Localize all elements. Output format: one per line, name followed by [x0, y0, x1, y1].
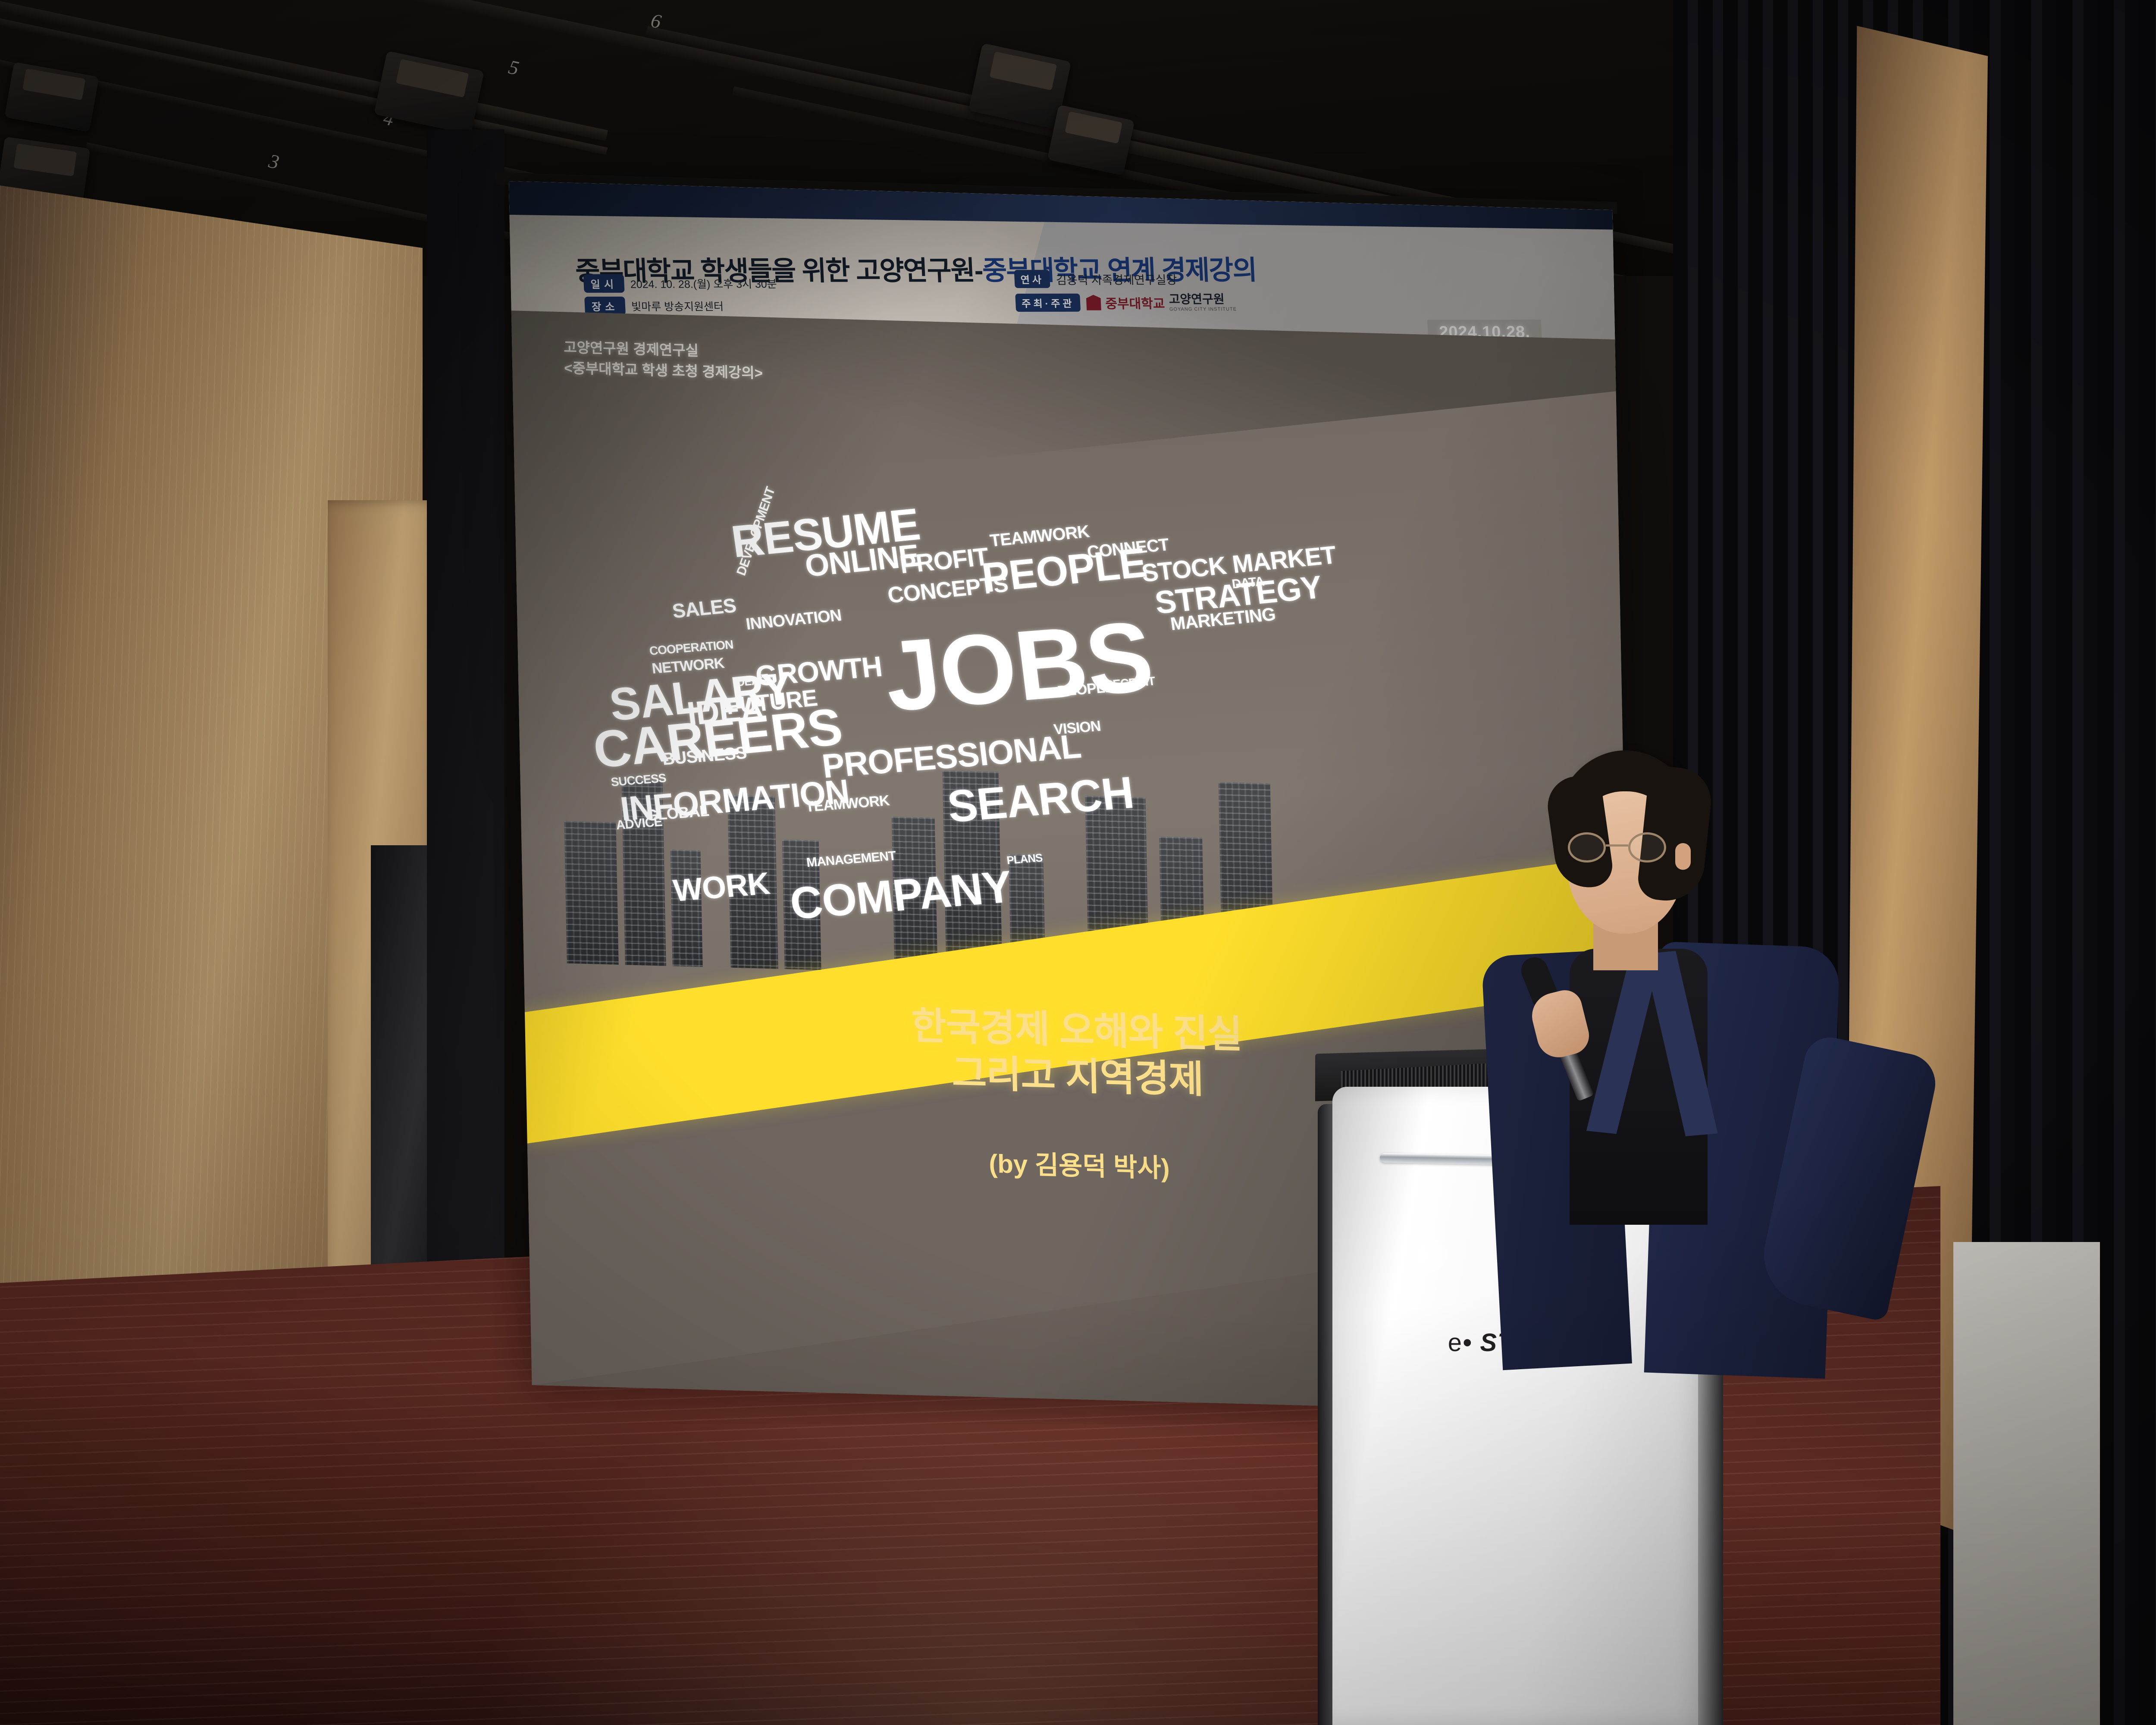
- eyeglass-lens-right: [1628, 832, 1666, 862]
- word-cloud-term: DATA: [1231, 577, 1265, 590]
- banner-tag-datetime: 일시: [583, 274, 625, 293]
- word-cloud-term: JOBS: [881, 615, 1157, 718]
- word-cloud-term: PROFESSIONAL: [821, 733, 1082, 781]
- word-cloud-term: WORK: [672, 871, 771, 903]
- word-cloud-term: GROWTH: [754, 655, 883, 688]
- word-cloud-term: VISION: [1053, 721, 1101, 736]
- word-cloud-graphic: JOBSPEOPLECAREERSSALARYRESUMEPROFESSIONA…: [539, 411, 1360, 984]
- banner-tag-speaker: 연사: [1014, 270, 1050, 288]
- stage-scene: 1 2 3 4 5 6: [0, 0, 2156, 1725]
- podium-logo-e: e: [1448, 1329, 1463, 1357]
- organizer-institute-ko: 고양연구원: [1169, 293, 1236, 305]
- slide-header: 고양연구원 경제연구실 <중부대학교 학생 초청 경제강의>: [564, 337, 763, 383]
- presenter-figure: [1479, 750, 1910, 1483]
- rail-number-3: 3: [267, 149, 282, 174]
- banner-value-speaker: 김용덕 자족경제연구실장: [1056, 270, 1177, 288]
- right-white-wall: [1953, 1242, 2100, 1725]
- organizer-institute-en: GOYANG CITY INSTITUTE: [1169, 307, 1237, 312]
- word-cloud-term: TEAMWORK: [989, 524, 1090, 548]
- city-silhouette: [564, 821, 618, 965]
- eyeglass-bridge: [1606, 844, 1628, 847]
- city-silhouette: [671, 850, 703, 967]
- word-cloud-term: MANAGEMENT: [806, 851, 896, 869]
- dark-wall-column: [427, 129, 505, 1423]
- banner-row-datetime: 일시 2024. 10. 28.(월) 오후 3시 30분: [583, 274, 777, 293]
- podium-highlight: [1397, 1229, 1453, 1281]
- banner-info-rows: 일시 2024. 10. 28.(월) 오후 3시 30분 장소 빛마루 방송지…: [583, 274, 779, 319]
- banner-row-organizer: 주최·주관 중부대학교 고양연구원 GOYANG CITY INSTITUTE: [1015, 293, 1237, 312]
- word-cloud-term: RECRUIT: [1104, 676, 1155, 690]
- word-cloud-term: ONLINE: [804, 543, 921, 579]
- word-cloud-term: SEARCH: [946, 775, 1135, 826]
- word-cloud-term: ADVICE: [615, 817, 663, 831]
- light-lens: [396, 59, 469, 97]
- word-cloud-term: TEAMWORK: [805, 795, 890, 813]
- word-cloud-term: IDEAS: [733, 676, 767, 687]
- word-cloud-term: INNOVATION: [745, 609, 842, 631]
- banner-tag-organizer: 주최·주관: [1015, 294, 1081, 312]
- word-cloud-term: SALES: [671, 597, 737, 620]
- word-cloud-words: JOBSPEOPLECAREERSSALARYRESUMEPROFESSIONA…: [539, 411, 1350, 432]
- eyeglass-lens-left: [1568, 832, 1606, 862]
- stage-light-fixture: [1047, 105, 1134, 176]
- light-lens: [22, 69, 85, 100]
- light-lens: [989, 51, 1056, 90]
- banner-value-datetime: 2024. 10. 28.(월) 오후 3시 30분: [630, 276, 777, 292]
- word-cloud-term: FUTURE: [725, 688, 818, 716]
- banner-speaker-block: 연사 김용덕 자족경제연구실장 주최·주관 중부대학교 고양연구원 GOYANG…: [1014, 270, 1237, 317]
- word-cloud-term: COOPERATION: [649, 640, 734, 656]
- light-lens: [1065, 111, 1122, 144]
- banner-row-venue: 장소 빛마루 방송지원센터: [584, 296, 778, 315]
- university-crest-icon: [1086, 295, 1102, 310]
- banner-value-venue: 빛마루 방송지원센터: [631, 298, 724, 314]
- word-cloud-term: CONNECT: [1086, 538, 1169, 560]
- organizer-logos: 중부대학교 고양연구원 GOYANG CITY INSTITUTE: [1086, 293, 1237, 312]
- rail-number-5: 5: [507, 55, 521, 80]
- organizer-institute: 고양연구원 GOYANG CITY INSTITUTE: [1169, 293, 1237, 312]
- presenter-eyeglasses-icon: [1568, 832, 1676, 862]
- banner-row-speaker: 연사 김용덕 자족경제연구실장: [1014, 270, 1236, 288]
- light-lens: [14, 144, 77, 176]
- presenter-ear: [1675, 843, 1691, 870]
- stage-light-fixture: [4, 62, 99, 132]
- word-cloud-term: PLANS: [1006, 853, 1043, 865]
- organizer-university-name: 중부대학교: [1105, 293, 1165, 312]
